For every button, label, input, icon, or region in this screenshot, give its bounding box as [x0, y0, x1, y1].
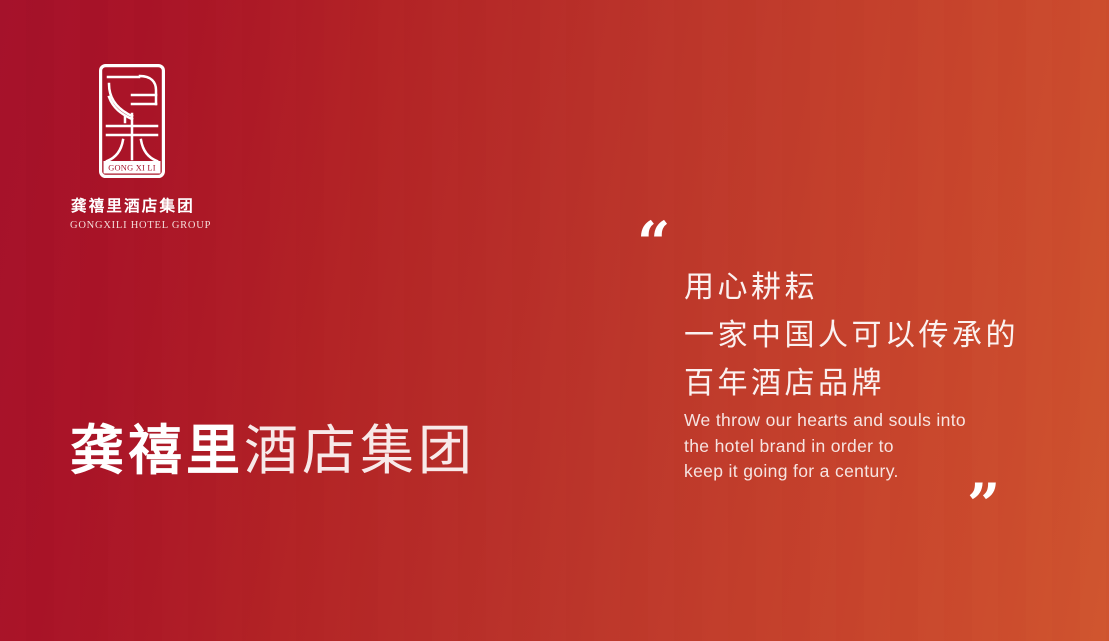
slogan-en: We throw our hearts and souls into the h…	[684, 408, 966, 485]
slogan-en-line: We throw our hearts and souls into	[684, 408, 966, 434]
page-title-rest: 酒店集团	[244, 421, 476, 481]
quote-open-icon: “	[637, 214, 670, 272]
page-title-emphasis: 龚禧里	[70, 421, 244, 481]
gongxili-seal-logo-icon: GONG XI LI	[99, 64, 165, 178]
logo-company-name-en: GONGXILI HOTEL GROUP	[70, 220, 300, 231]
slogan-en-line: keep it going for a century.	[684, 459, 966, 485]
slogan-cn-line: 一家中国人可以传承的	[684, 312, 1019, 360]
slogan-en-line: the hotel brand in order to	[684, 434, 966, 460]
logo-company-name-cn: 龚禧里酒店集团	[70, 194, 300, 216]
quote-close-icon: ”	[967, 476, 1000, 534]
slogan-cn: 用心耕耘 一家中国人可以传承的 百年酒店品牌	[684, 264, 1019, 408]
brand-slide: GONG XI LI 龚禧里酒店集团 GONGXILI HOTEL GROUP …	[0, 0, 1109, 641]
page-title: 龚禧里酒店集团	[70, 420, 476, 484]
brand-logo-block: GONG XI LI 龚禧里酒店集团 GONGXILI HOTEL GROUP	[70, 64, 300, 231]
logo-mark-inner-text: GONG XI LI	[108, 163, 156, 172]
brand-slogan-quote: “ 用心耕耘 一家中国人可以传承的 百年酒店品牌 We throw our he…	[637, 214, 1037, 534]
slogan-cn-line: 百年酒店品牌	[684, 360, 1019, 408]
slogan-cn-line: 用心耕耘	[684, 264, 1019, 312]
